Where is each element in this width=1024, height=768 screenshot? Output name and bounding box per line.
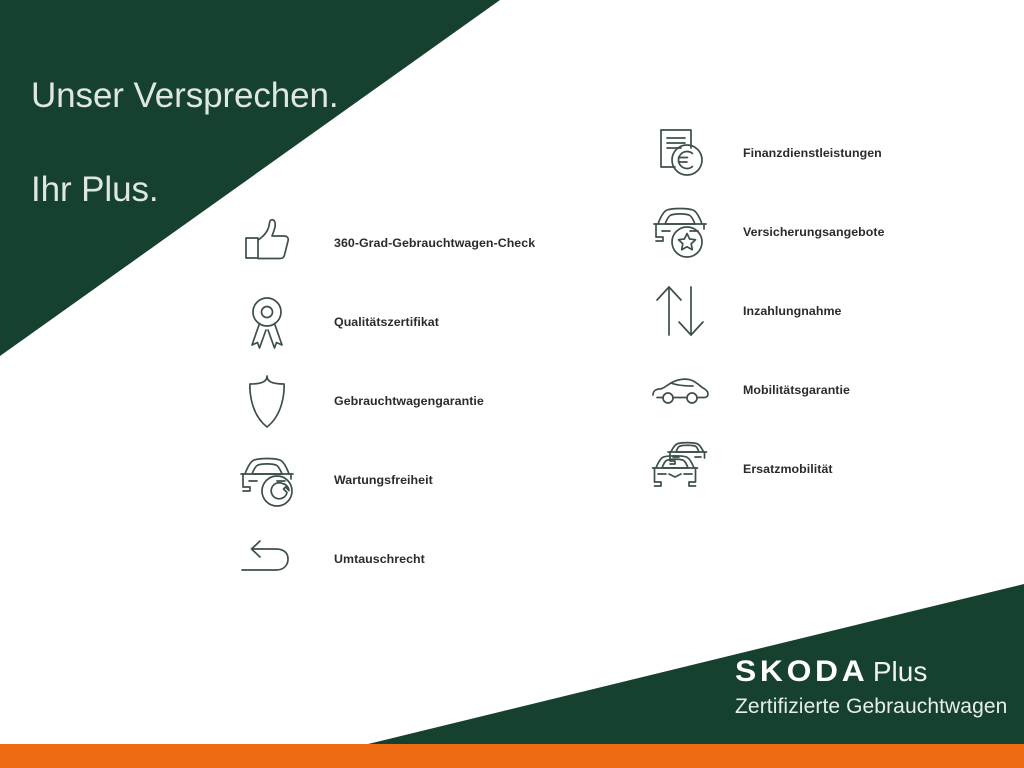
feature-item-replacement-mobility: Ersatzmobilität	[645, 434, 975, 503]
feature-item-360-check: 360-Grad-Gebrauchtwagen-Check	[232, 208, 572, 277]
feature-item-quality-certificate: Qualitätszertifikat	[232, 287, 572, 356]
feature-label: Ersatzmobilität	[715, 462, 833, 476]
orange-accent-bar	[0, 744, 1024, 768]
feature-item-exchange-right: Umtauschrecht	[232, 524, 572, 593]
feature-item-trade-in: Inzahlungnahme	[645, 276, 975, 345]
document-euro-icon	[645, 122, 715, 184]
skoda-plus-logo: SKODA Plus Zertifizierte Gebrauchtwagen	[735, 657, 1007, 718]
plus-wordmark: Plus	[873, 658, 927, 686]
return-arrow-icon	[232, 528, 302, 590]
feature-item-financial-services: Finanzdienstleistungen	[645, 118, 975, 187]
thumbs-up-icon	[232, 212, 302, 274]
feature-list-right: Finanzdienstleistungen Versicherungsange…	[645, 118, 975, 513]
logo-tagline: Zertifizierte Gebrauchtwagen	[735, 695, 1007, 718]
feature-label: Qualitätszertifikat	[302, 315, 439, 329]
headline-line-1: Unser Versprechen.	[31, 73, 339, 120]
feature-label: Gebrauchtwagengarantie	[302, 394, 484, 408]
car-side-icon	[645, 359, 715, 421]
feature-label: Mobilitätsgarantie	[715, 383, 850, 397]
car-wrench-icon	[232, 449, 302, 511]
award-rosette-icon	[232, 291, 302, 353]
feature-label: Inzahlungnahme	[715, 304, 841, 318]
two-cars-icon	[645, 438, 715, 500]
feature-item-used-car-warranty: Gebrauchtwagengarantie	[232, 366, 572, 435]
shield-icon	[232, 370, 302, 432]
feature-item-mobility-guarantee: Mobilitätsgarantie	[645, 355, 975, 424]
headline-line-2: Ihr Plus.	[31, 167, 339, 214]
feature-label: Versicherungsangebote	[715, 225, 885, 239]
feature-item-insurance-offers: Versicherungsangebote	[645, 197, 975, 266]
feature-list-left: 360-Grad-Gebrauchtwagen-Check Qualitätsz…	[232, 208, 572, 603]
up-down-arrows-icon	[645, 280, 715, 342]
feature-item-maintenance-free: Wartungsfreiheit	[232, 445, 572, 514]
car-star-icon	[645, 201, 715, 263]
promo-banner: Unser Versprechen. Ihr Plus. 360-Grad-Ge…	[0, 0, 1024, 768]
feature-label: 360-Grad-Gebrauchtwagen-Check	[302, 236, 535, 250]
logo-wordmark-row: SKODA Plus	[735, 657, 1007, 687]
feature-label: Umtauschrecht	[302, 552, 425, 566]
skoda-wordmark: SKODA	[735, 657, 868, 687]
feature-label: Finanzdienstleistungen	[715, 146, 882, 160]
feature-label: Wartungsfreiheit	[302, 473, 433, 487]
